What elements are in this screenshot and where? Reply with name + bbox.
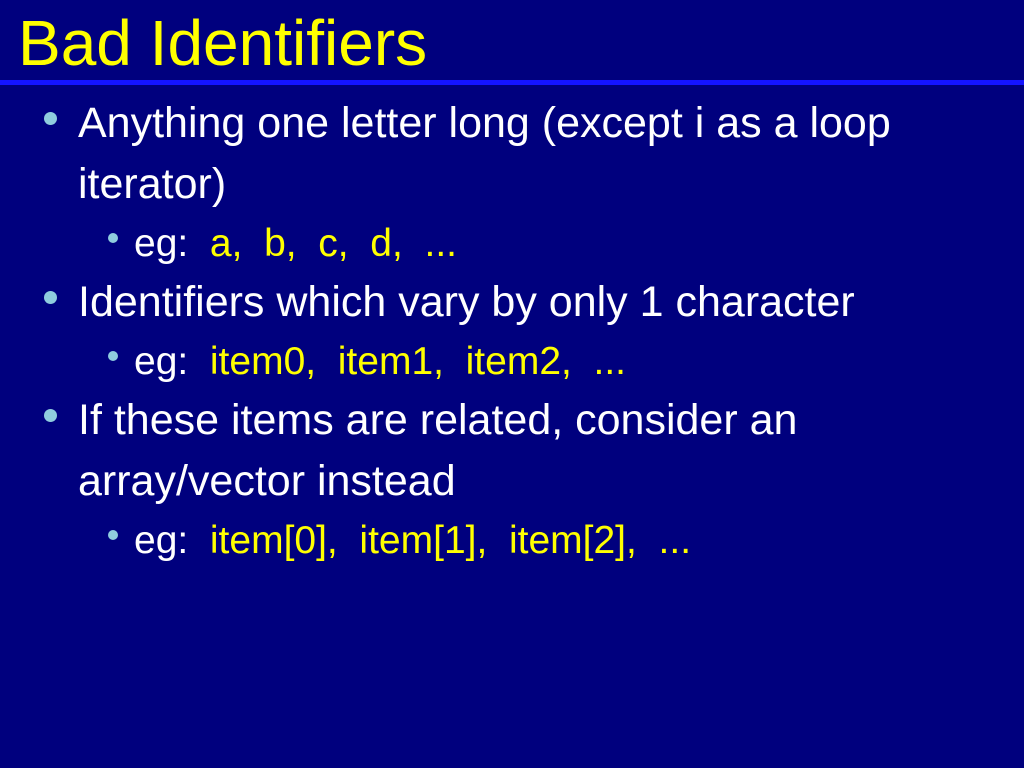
slide-title-block: Bad Identifiers xyxy=(0,0,1024,80)
example-label: eg: xyxy=(134,519,210,562)
bullet-text: Identifiers which vary by only 1 charact… xyxy=(78,272,1000,333)
slide-body-bullet-list: Anything one letter long (except i as a … xyxy=(0,93,1024,569)
bullet-item-level1: Identifiers which vary by only 1 charact… xyxy=(0,272,1024,333)
bullet-item-level1: Anything one letter long (except i as a … xyxy=(0,93,1024,215)
presentation-slide: Bad Identifiers Anything one letter long… xyxy=(0,0,1024,768)
example-label: eg: xyxy=(134,340,210,383)
title-divider-rule xyxy=(0,80,1024,85)
bullet-text: eg: a, b, c, d, ... xyxy=(134,215,1000,272)
bullet-dot-icon xyxy=(44,409,57,422)
bullet-text: eg: item[0], item[1], item[2], ... xyxy=(134,512,1000,569)
example-label: eg: xyxy=(134,222,210,265)
page-title: Bad Identifiers xyxy=(18,8,427,78)
bullet-item-level2: eg: a, b, c, d, ... xyxy=(0,215,1024,272)
example-value: a, b, c, d, ... xyxy=(210,222,457,265)
example-value: item0, item1, item2, ... xyxy=(210,340,626,383)
bullet-item-level2: eg: item[0], item[1], item[2], ... xyxy=(0,512,1024,569)
bullet-dot-icon xyxy=(108,351,118,361)
bullet-dot-icon xyxy=(44,291,57,304)
bullet-text: If these items are related, consider an … xyxy=(78,390,1000,512)
bullet-item-level1: If these items are related, consider an … xyxy=(0,390,1024,512)
bullet-item-level2: eg: item0, item1, item2, ... xyxy=(0,333,1024,390)
example-value: item[0], item[1], item[2], ... xyxy=(210,519,691,562)
bullet-dot-icon xyxy=(44,112,57,125)
bullet-text: Anything one letter long (except i as a … xyxy=(78,93,1000,215)
bullet-text: eg: item0, item1, item2, ... xyxy=(134,333,1000,390)
bullet-dot-icon xyxy=(108,530,118,540)
bullet-dot-icon xyxy=(108,233,118,243)
